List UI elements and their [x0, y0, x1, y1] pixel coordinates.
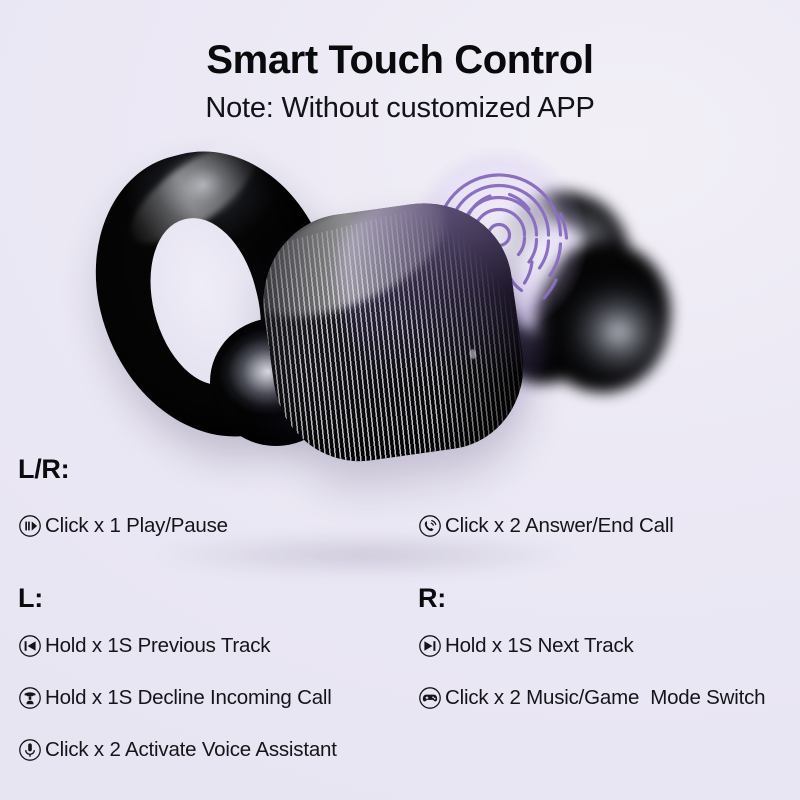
control-row-play-pause: Click x 1 Play/Pause — [18, 514, 228, 538]
earbud-touch-panel — [252, 192, 534, 472]
control-label-play-pause: Click x 1 Play/Pause — [45, 516, 228, 537]
control-label-next-track: Hold x 1S Next Track — [445, 636, 634, 657]
group-heading-lr: L/R: — [18, 456, 69, 483]
control-label-music-game-mode: Click x 2 Music/Game Mode Switch — [445, 688, 765, 709]
page-title: Smart Touch Control — [0, 38, 800, 83]
control-label-previous-track: Hold x 1S Previous Track — [45, 636, 270, 657]
group-heading-r: R: — [418, 585, 446, 612]
control-row-music-game-mode: Click x 2 Music/Game Mode Switch — [418, 686, 765, 710]
control-row-next-track: Hold x 1S Next Track — [418, 634, 634, 658]
control-row-voice-assistant: Click x 2 Activate Voice Assistant — [18, 738, 337, 762]
control-label-decline-call: Hold x 1S Decline Incoming Call — [45, 688, 332, 709]
previous-track-icon — [18, 634, 42, 658]
microphone-icon — [18, 738, 42, 762]
control-row-previous-track: Hold x 1S Previous Track — [18, 634, 270, 658]
control-row-decline-call: Hold x 1S Decline Incoming Call — [18, 686, 332, 710]
earbud-hook-highlight — [116, 126, 271, 261]
product-image — [0, 140, 800, 460]
page-subtitle: Note: Without customized APP — [0, 92, 800, 125]
answer-call-icon — [418, 514, 442, 538]
group-heading-l: L: — [18, 585, 43, 612]
next-track-icon — [418, 634, 442, 658]
header: Smart Touch Control Note: Without custom… — [0, 0, 800, 125]
gamepad-icon — [418, 686, 442, 710]
earbud-front — [92, 150, 512, 450]
control-label-answer-call: Click x 2 Answer/End Call — [445, 516, 674, 537]
control-label-voice-assistant: Click x 2 Activate Voice Assistant — [45, 740, 337, 761]
controls-section: L/R: Click x 1 Play/Pause L: Hold x 1S P… — [0, 452, 800, 800]
play-pause-icon — [18, 514, 42, 538]
control-row-answer-call: Click x 2 Answer/End Call — [418, 514, 674, 538]
smart-touch-control-page: Smart Touch Control Note: Without custom… — [0, 0, 800, 800]
decline-call-icon — [18, 686, 42, 710]
